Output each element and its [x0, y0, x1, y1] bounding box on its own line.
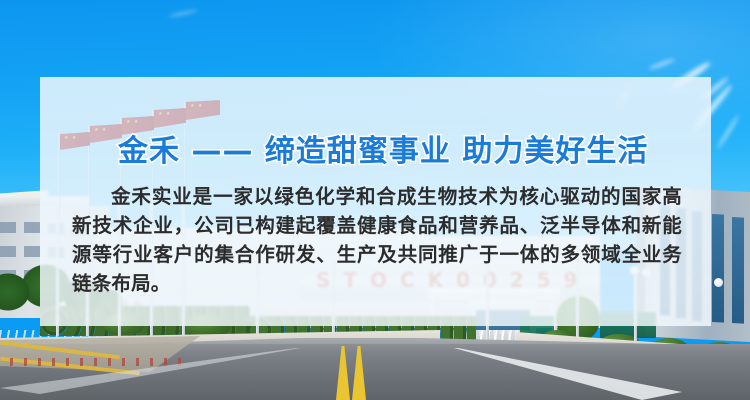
national-flag-icon: ★ ★ — [154, 108, 186, 128]
banner-image: S T O C K 0 0 2 5 9 7 LTD. — [0, 0, 750, 400]
company-description: 金禾实业是一家以绿色化学和合成生物技术为核心驱动的国家高新技术企业，公司已构建起… — [72, 182, 682, 298]
national-flag-icon: ★ ★ — [60, 132, 90, 150]
flag-pole — [58, 132, 60, 216]
street-lamp-icon — [714, 278, 723, 287]
page-title: 金禾 —— 缔造甜蜜事业 助力美好生活 — [118, 126, 648, 170]
kerb-marking — [10, 358, 190, 366]
